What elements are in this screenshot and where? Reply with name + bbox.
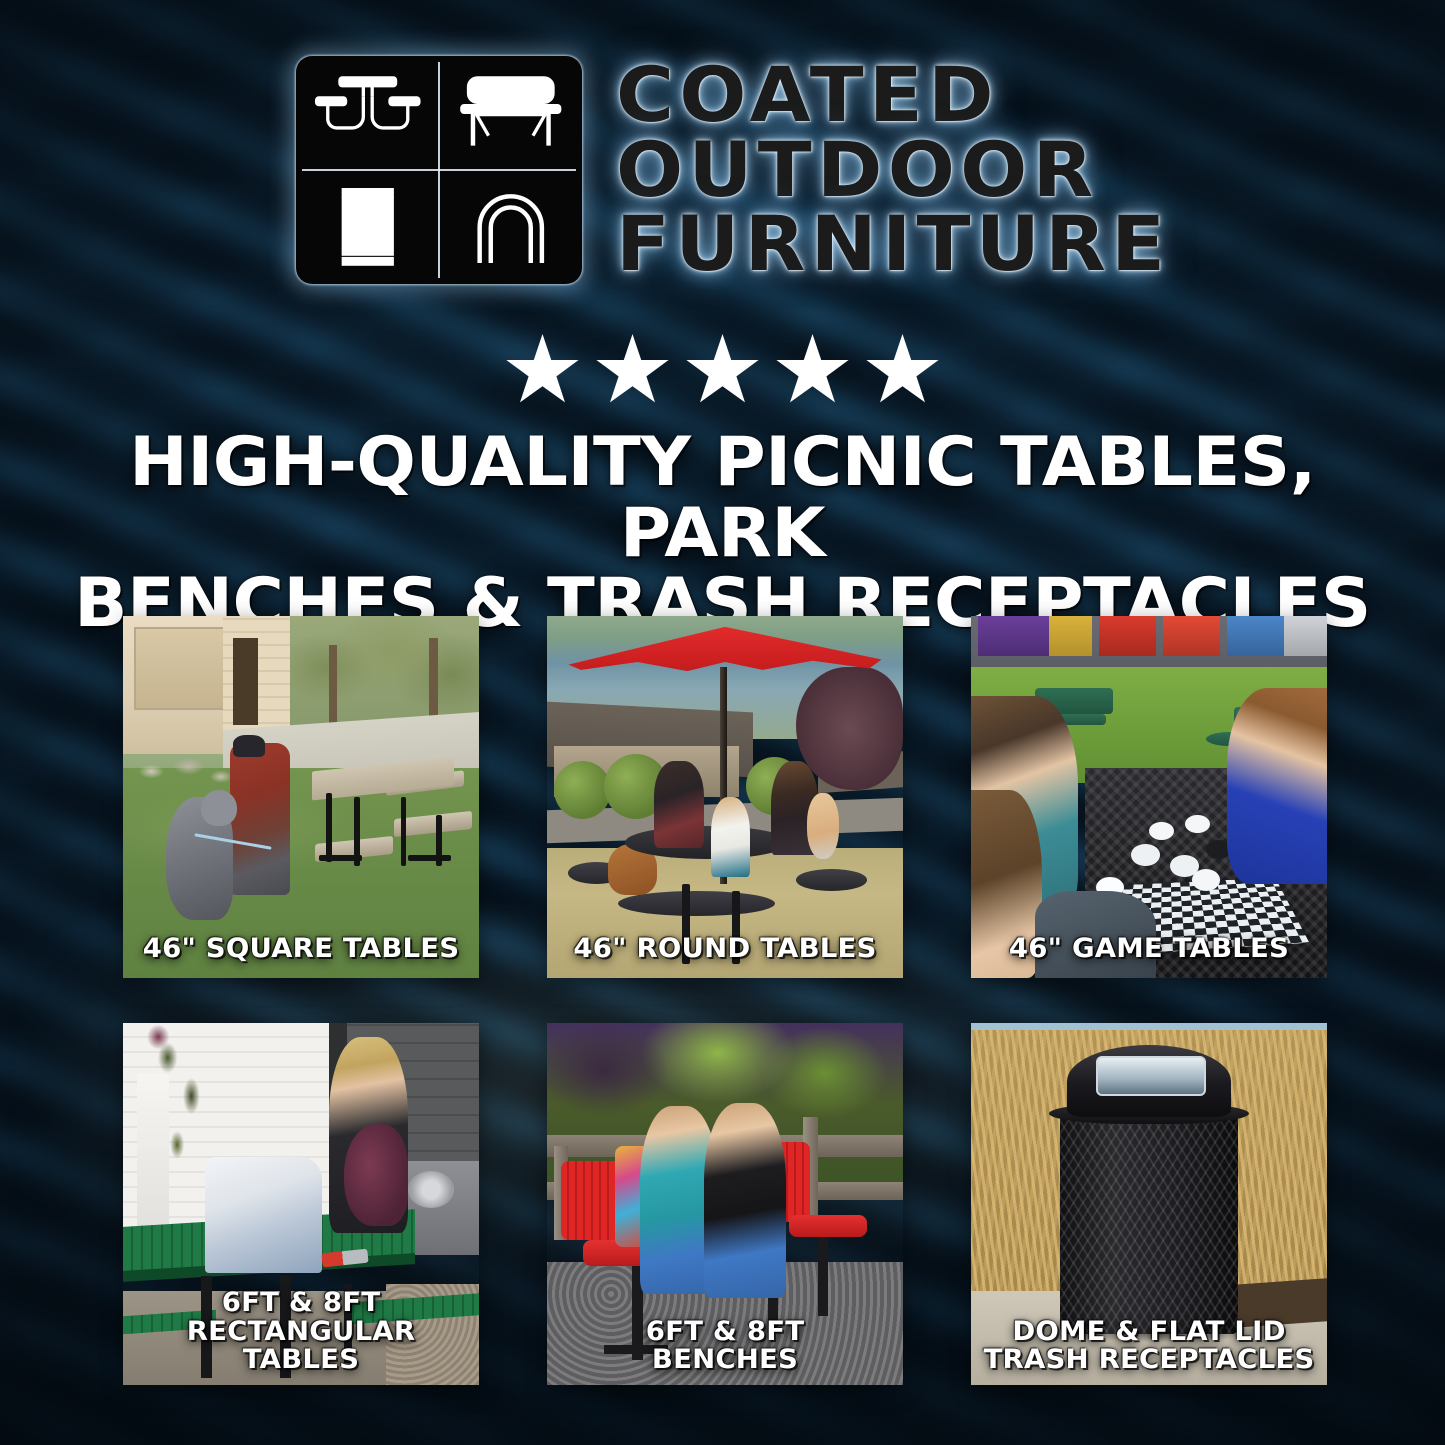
star-rating xyxy=(0,334,1445,408)
product-tile-benches[interactable]: 6FT & 8FT BENCHES xyxy=(547,1023,903,1385)
brand-line-3: FURNITURE xyxy=(616,208,1170,281)
product-caption-line-2: BENCHES xyxy=(550,1346,901,1375)
star-icon xyxy=(506,334,580,408)
headline: HIGH-QUALITY PICNIC TABLES, PARK BENCHES… xyxy=(0,428,1445,640)
product-tile-game-tables[interactable]: 46" GAME TABLES xyxy=(971,616,1327,978)
product-caption-line-1: DOME & FLAT LID xyxy=(974,1318,1325,1347)
product-photo-round-tables xyxy=(547,616,903,978)
product-caption: 6FT & 8FT BENCHES xyxy=(547,1318,903,1375)
product-photo-square-tables xyxy=(123,616,479,978)
product-caption-line-1: 46" ROUND TABLES xyxy=(550,935,901,964)
brand-line-1: COATED xyxy=(616,59,1170,132)
brand-logo-mark xyxy=(296,56,582,284)
brand-wordmark: COATED OUTDOOR FURNITURE xyxy=(616,59,1149,282)
star-icon xyxy=(686,334,760,408)
product-caption: 6FT & 8FT RECTANGULAR TABLES xyxy=(123,1289,479,1375)
promo-graphic: COATED OUTDOOR FURNITURE HIGH-QUALITY PI… xyxy=(0,0,1445,1445)
brand-line-2: OUTDOOR xyxy=(616,134,1170,207)
product-caption-line-1: 46" GAME TABLES xyxy=(974,935,1325,964)
product-caption: 46" ROUND TABLES xyxy=(547,935,903,964)
product-caption-line-1: 46" SQUARE TABLES xyxy=(126,935,477,964)
product-caption: 46" SQUARE TABLES xyxy=(123,935,479,964)
product-caption: 46" GAME TABLES xyxy=(971,935,1327,964)
product-tile-round-tables[interactable]: 46" ROUND TABLES xyxy=(547,616,903,978)
headline-line-1: HIGH-QUALITY PICNIC TABLES, PARK xyxy=(38,428,1407,569)
bike-rack-icon xyxy=(439,170,582,284)
product-tile-square-tables[interactable]: 46" SQUARE TABLES xyxy=(123,616,479,978)
product-grid: 46" SQUARE TABLES xyxy=(123,616,1323,1385)
bench-icon xyxy=(439,56,582,170)
product-tile-trash-receptacles[interactable]: DOME & FLAT LID TRASH RECEPTACLES xyxy=(971,1023,1327,1385)
product-photo-game-tables xyxy=(971,616,1327,978)
product-caption-line-1: 6FT & 8FT xyxy=(550,1318,901,1347)
product-caption-line-2: TRASH RECEPTACLES xyxy=(974,1346,1325,1375)
product-caption: DOME & FLAT LID TRASH RECEPTACLES xyxy=(971,1318,1327,1375)
star-icon xyxy=(776,334,850,408)
product-caption-line-1: 6FT & 8FT xyxy=(126,1289,477,1318)
picnic-table-icon xyxy=(296,56,439,170)
trash-receptacle-icon xyxy=(296,170,439,284)
star-icon xyxy=(596,334,670,408)
star-icon xyxy=(866,334,940,408)
product-caption-line-2: RECTANGULAR TABLES xyxy=(126,1318,477,1375)
brand-header: COATED OUTDOOR FURNITURE xyxy=(0,56,1445,284)
product-tile-rectangular-tables[interactable]: 6FT & 8FT RECTANGULAR TABLES xyxy=(123,1023,479,1385)
